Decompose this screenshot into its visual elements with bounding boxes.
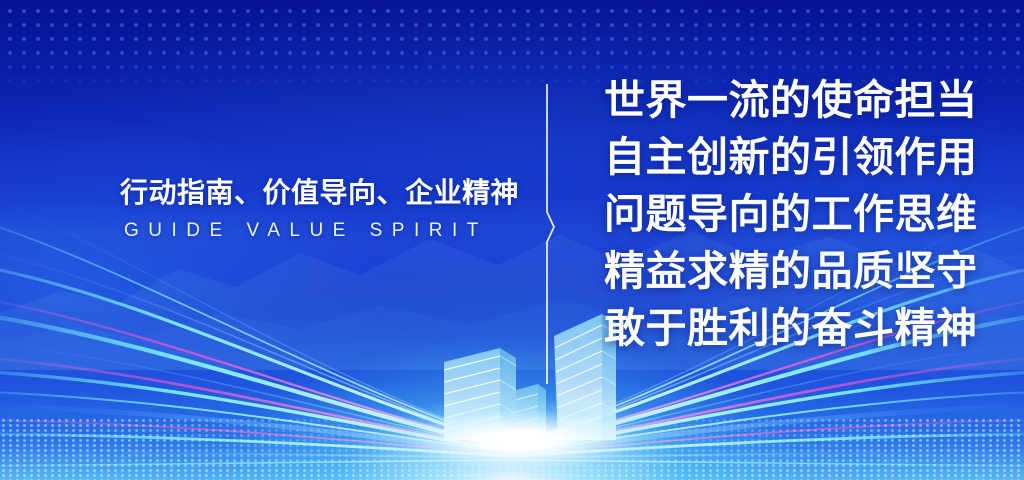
middle-tower <box>516 384 546 440</box>
vertical-divider <box>543 84 557 384</box>
slogan-line-1: 世界一流的使命担当 <box>604 72 1004 129</box>
left-headline: 行动指南、价值导向、企业精神 <box>120 176 520 210</box>
slogan-line-2: 自主创新的引领作用 <box>604 129 1004 186</box>
culture-banner: 行动指南、价值导向、企业精神 GUIDE VALUE SPIRIT 世界一流的使… <box>0 0 1024 480</box>
slogan-line-5: 敢于胜利的奋斗精神 <box>604 300 1004 357</box>
left-subtitle: GUIDE VALUE SPIRIT <box>124 220 520 243</box>
divider-chevron-icon <box>543 84 557 384</box>
left-text-block: 行动指南、价值导向、企业精神 GUIDE VALUE SPIRIT <box>120 176 520 242</box>
slogan-line-3: 问题导向的工作思维 <box>604 186 1004 243</box>
left-tower <box>444 348 516 440</box>
right-slogan-block: 世界一流的使命担当 自主创新的引领作用 问题导向的工作思维 精益求精的品质坚守 … <box>604 72 1004 357</box>
slogan-line-4: 精益求精的品质坚守 <box>604 243 1004 300</box>
